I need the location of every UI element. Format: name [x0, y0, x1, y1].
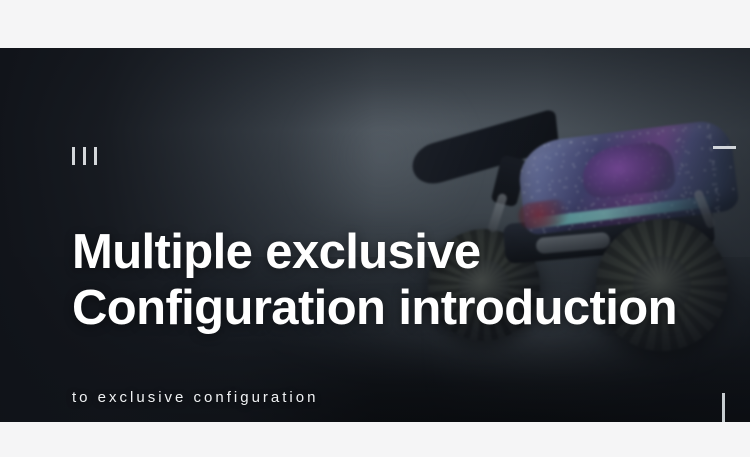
hero-subtitle: to exclusive configuration	[72, 389, 318, 406]
hero-banner: Multiple exclusive Configuration introdu…	[0, 48, 750, 422]
bar-2	[83, 147, 86, 165]
hero-headline-line-2: Configuration introduction	[72, 280, 677, 336]
hero-content-layer: Multiple exclusive Configuration introdu…	[0, 48, 750, 422]
page-root: Multiple exclusive Configuration introdu…	[0, 0, 750, 457]
bar-3	[94, 147, 97, 165]
top-spacer-strip	[0, 0, 750, 48]
hero-headline: Multiple exclusive Configuration introdu…	[72, 224, 677, 336]
bottom-spacer-strip	[0, 422, 750, 457]
horizontal-dash-icon	[713, 146, 736, 149]
three-bars-icon	[72, 147, 97, 165]
hero-headline-line-1: Multiple exclusive	[72, 225, 481, 279]
bar-1	[72, 147, 75, 165]
vertical-rule-icon	[722, 393, 725, 422]
